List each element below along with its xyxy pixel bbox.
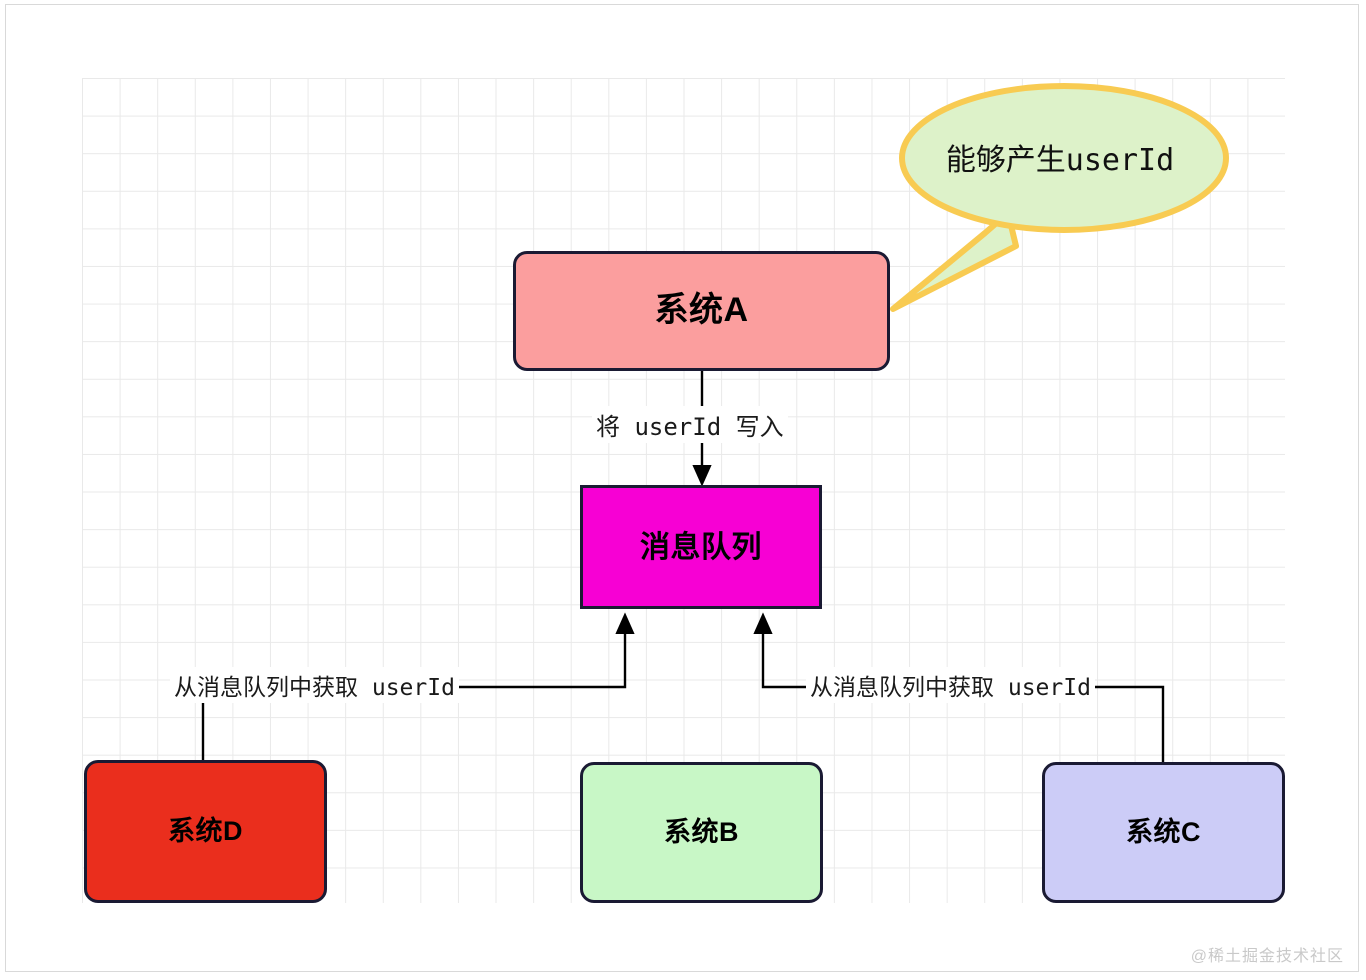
node-system-b[interactable]: 系统B (580, 762, 823, 903)
node-system-a-label: 系统A (654, 292, 748, 329)
node-system-d[interactable]: 系统D (84, 760, 327, 903)
node-system-c[interactable]: 系统C (1042, 762, 1285, 903)
edge-label-c-to-queue: 从消息队列中获取 userId (806, 667, 1095, 703)
node-message-queue-label: 消息队列 (640, 531, 762, 564)
node-message-queue[interactable]: 消息队列 (580, 485, 822, 609)
node-system-c-label: 系统C (1126, 818, 1201, 848)
node-system-d-label: 系统D (168, 817, 243, 847)
watermark: @稀土掘金技术社区 (1191, 942, 1344, 966)
edge-label-a-to-queue: 将 userId 写入 (592, 406, 788, 443)
node-system-a[interactable]: 系统A (513, 251, 890, 371)
node-system-b-label: 系统B (664, 818, 739, 848)
callout-bubble (893, 86, 1226, 309)
edge-label-d-to-queue: 从消息队列中获取 userId (170, 667, 459, 703)
diagram-page: 能够产生userId 系统A 消息队列 系统D 系统B 系统C 将 userId… (0, 0, 1366, 980)
